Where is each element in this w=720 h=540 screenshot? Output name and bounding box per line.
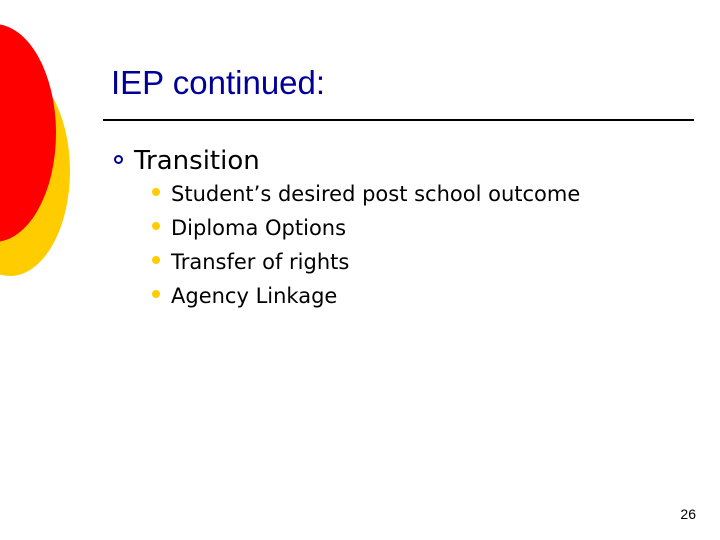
list-item-level2-label: Diploma Options xyxy=(171,218,346,239)
hollow-circle-bullet-icon xyxy=(114,155,123,164)
title-divider-rule xyxy=(103,119,694,121)
list-item-level2: Transfer of rights xyxy=(0,252,720,286)
page-number: 26 xyxy=(680,506,696,522)
dot-bullet-icon xyxy=(152,256,160,264)
dot-bullet-icon xyxy=(152,222,160,230)
dot-bullet-icon xyxy=(152,188,160,196)
slide-body-content: Transition Student’s desired post school… xyxy=(0,148,720,320)
list-item-level2: Agency Linkage xyxy=(0,286,720,320)
list-item-level2-label: Transfer of rights xyxy=(171,252,349,273)
slide-title: IEP continued: xyxy=(111,64,325,102)
list-item-level1-label: Transition xyxy=(134,148,260,174)
presentation-slide: IEP continued: Transition Student’s desi… xyxy=(0,0,720,540)
list-item-level2: Student’s desired post school outcome xyxy=(0,184,720,218)
list-item-level1: Transition xyxy=(0,148,720,184)
list-item-level2: Diploma Options xyxy=(0,218,720,252)
list-item-level2-label: Student’s desired post school outcome xyxy=(171,184,580,205)
list-item-level2-label: Agency Linkage xyxy=(171,286,337,307)
dot-bullet-icon xyxy=(152,290,160,298)
